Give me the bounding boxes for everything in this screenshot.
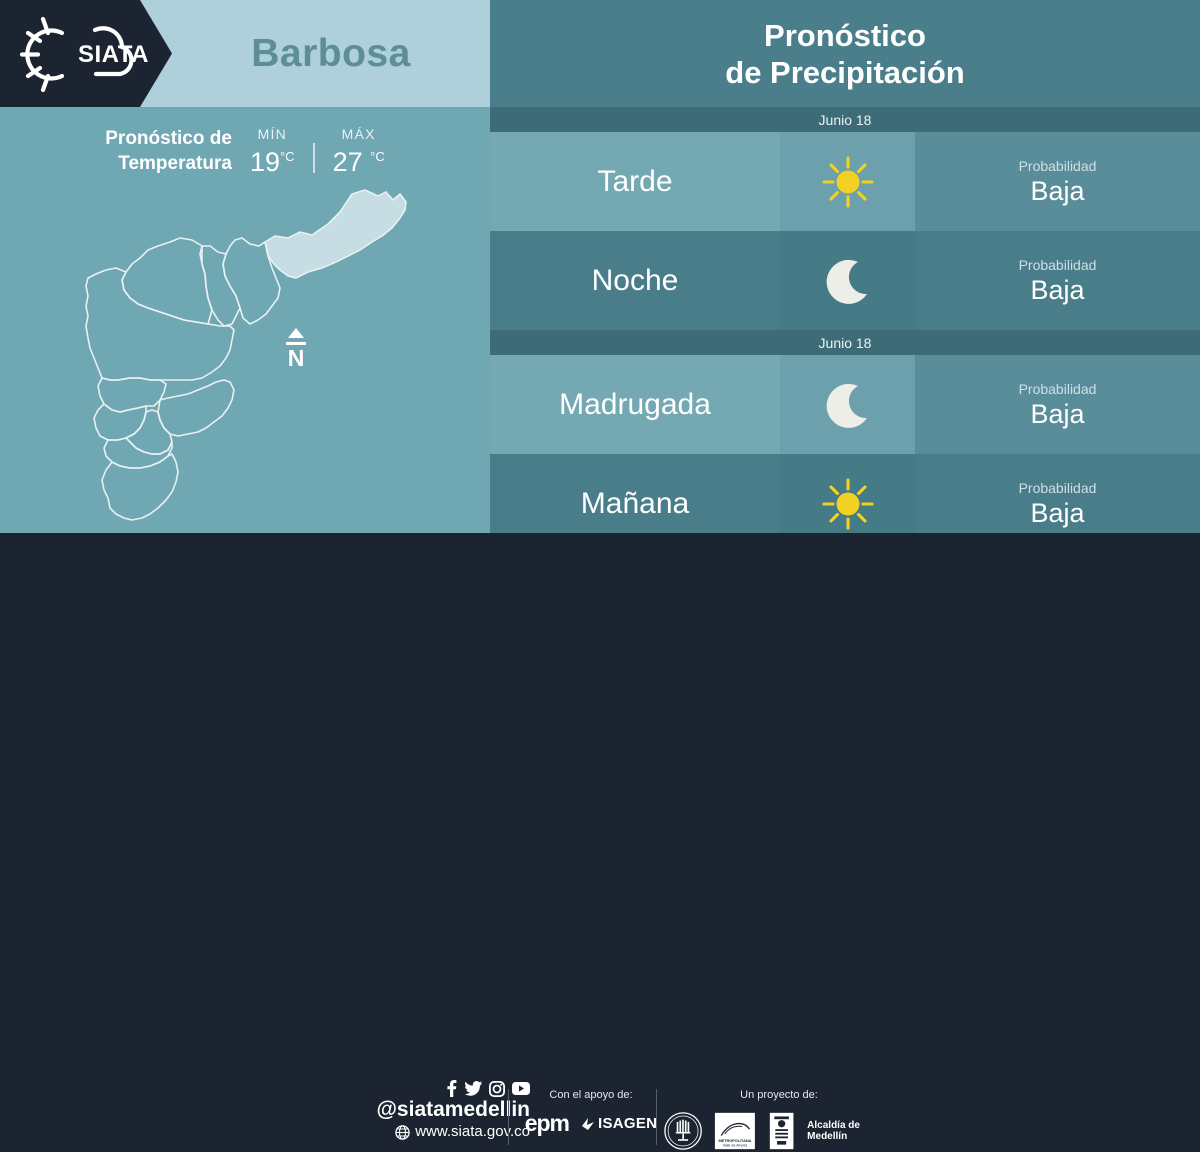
precipitation-header: Pronóstico de Precipitación [490,0,1200,107]
area-metropolitana-logo-icon: METROPOLITANA Valle de Aburrá [714,1110,756,1152]
forecast-groups: Junio 18 Tarde Probabilida [490,107,1200,553]
temperature-divider [313,143,315,173]
temperature-min-unit: °C [280,149,295,164]
forecast-period: Madrugada [490,355,780,454]
compass-north-icon: N [286,328,306,371]
project-caption: Un proyecto de: [740,1089,818,1101]
infographic-root: SIATA Barbosa Pronóstico de Temperatura … [0,0,1200,630]
map-region-sabaneta [126,410,172,454]
probability-label: Probabilidad [1019,479,1097,498]
temperature-title-line2: Temperatura [105,151,232,176]
temperature-min: MÍN 19°C [250,126,295,176]
support-caption: Con el apoyo de: [549,1089,632,1101]
map-region-barbosa [265,190,406,278]
temperature-summary: Pronóstico de Temperatura MÍN 19°C MÁX 2… [0,118,490,184]
temperature-min-value: 19 [250,147,280,177]
forecast-period: Tarde [490,132,780,231]
footer-divider [508,1089,509,1145]
map-region-envigado [158,380,234,436]
moon-icon [780,231,915,330]
alcaldia-de-medellin-crest-icon [768,1110,795,1152]
twitter-icon[interactable] [465,1081,482,1096]
social-block: @siatamedellin www.siata.gov.co [330,1080,530,1142]
probability-value: Baja [1030,498,1084,529]
precipitation-title-line2: de Precipitación [725,54,964,91]
compass-label: N [288,345,305,371]
moon-icon [780,355,915,454]
probability-label: Probabilidad [1019,256,1097,275]
map-region-north-west [86,268,234,380]
sun-icon [780,132,915,231]
temperature-panel: SIATA Barbosa Pronóstico de Temperatura … [0,0,490,533]
temperature-max-value: 27 [333,147,363,177]
isagen-logo: ISAGEN [581,1115,657,1132]
date-separator: Junio 18 [490,330,1200,355]
map-region-itagui [94,404,146,440]
website-url: www.siata.gov.co [415,1122,530,1142]
universidad-de-medellin-seal-icon [664,1110,702,1152]
precipitation-title-line1: Pronóstico [764,17,926,54]
siata-logo-text: SIATA [78,41,149,68]
website-row[interactable]: www.siata.gov.co [395,1122,530,1142]
siata-logo-banner: SIATA [0,0,172,107]
footer-divider-2 [656,1089,657,1145]
probability-value: Baja [1030,176,1084,207]
temperature-max-label: MÁX [333,126,385,142]
probability-label: Probabilidad [1019,157,1097,176]
probability-label: Probabilidad [1019,380,1097,399]
alcaldia-label: Alcaldía de Medellín [807,1120,894,1142]
forecast-row: Tarde Probabilidad Baja [490,132,1200,231]
probability-cell: Probabilidad Baja [915,355,1200,454]
forecast-period: Noche [490,231,780,330]
area-logo-line1: METROPOLITANA [719,1139,752,1143]
project-logo-row: METROPOLITANA Valle de Aburrá Alcaldía d… [664,1110,894,1152]
date-separator: Junio 18 [490,107,1200,132]
temperature-min-value-wrap: 19°C [250,143,295,176]
footer: @siatamedellin www.siata.gov.co Con el a… [0,533,1200,630]
map-region-bello [122,238,212,324]
probability-value: Baja [1030,275,1084,306]
facebook-icon[interactable] [445,1080,458,1097]
isagen-mark-icon [581,1117,595,1131]
temperature-title-line1: Pronóstico de [105,126,232,151]
project-block: Un proyecto de: [664,1089,894,1152]
probability-value: Baja [1030,399,1084,430]
forecast-row: Noche Probabilidad Baja [490,231,1200,330]
support-block: Con el apoyo de: epm ISAGEN [516,1089,666,1137]
epm-logo: epm [525,1110,569,1137]
globe-icon [395,1125,410,1140]
forecast-row: Madrugada Probabilidad Baja [490,355,1200,454]
area-logo-line2: Valle de Aburrá [723,1143,749,1147]
precipitation-panel: Pronóstico de Precipitación Junio 18 Tar… [490,0,1200,533]
isagen-label: ISAGEN [598,1115,657,1132]
aburra-valley-map: N [60,180,440,530]
map-region-caldas [102,454,178,520]
probability-cell: Probabilidad Baja [915,231,1200,330]
social-handle[interactable]: @siatamedellin [376,1098,530,1122]
temperature-max-value-wrap: 27 °C [333,143,385,176]
temperature-title: Pronóstico de Temperatura [105,126,232,176]
temperature-max: MÁX 27 °C [333,126,385,176]
probability-cell: Probabilidad Baja [915,132,1200,231]
support-logo-row: epm ISAGEN [525,1110,658,1137]
temperature-min-label: MÍN [250,126,295,142]
temperature-max-unit: °C [370,149,385,164]
instagram-icon[interactable] [489,1081,505,1097]
city-name: Barbosa [172,0,490,107]
